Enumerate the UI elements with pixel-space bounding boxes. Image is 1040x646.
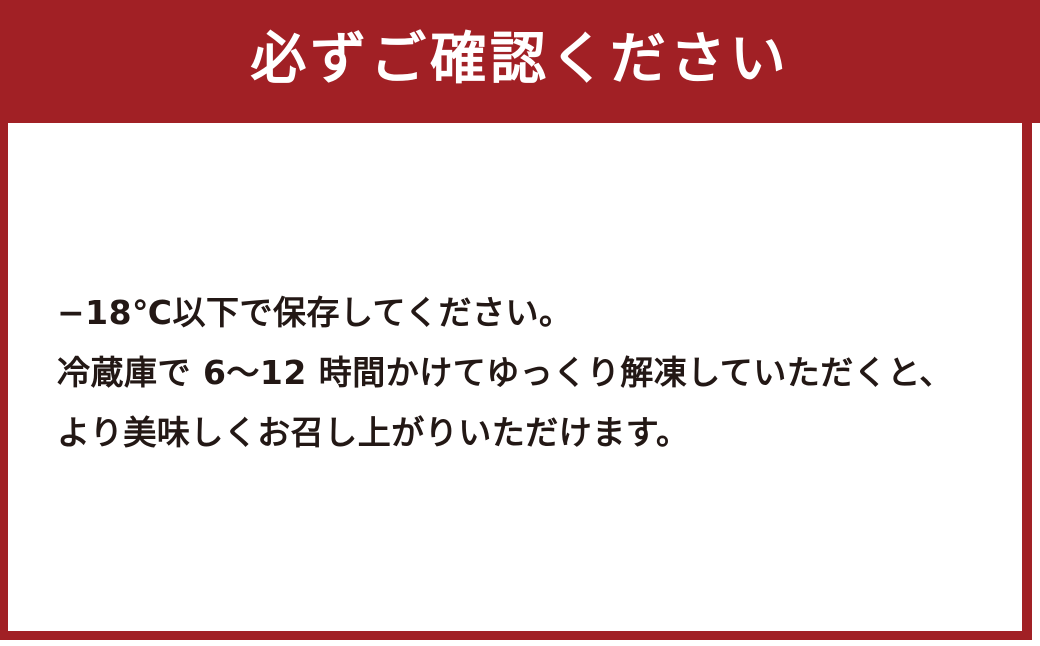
- notice-header-band: 必ずご確認ください: [0, 0, 1040, 123]
- notice-body: −18℃以下で保存してください。 冷蔵庫で 6〜12 時間かけてゆっくり解凍して…: [8, 123, 1022, 631]
- notice-card: 必ずご確認ください −18℃以下で保存してください。 冷蔵庫で 6〜12 時間か…: [0, 0, 1032, 640]
- notice-header-title: 必ずご確認ください: [250, 32, 789, 88]
- instruction-line: より美味しくお召し上がりいただけます。: [57, 403, 1022, 463]
- instruction-line: 冷蔵庫で 6〜12 時間かけてゆっくり解凍していただくと、: [57, 343, 1022, 403]
- storage-instruction-list: −18℃以下で保存してください。 冷蔵庫で 6〜12 時間かけてゆっくり解凍して…: [57, 283, 1022, 463]
- instruction-line: −18℃以下で保存してください。: [57, 283, 1022, 343]
